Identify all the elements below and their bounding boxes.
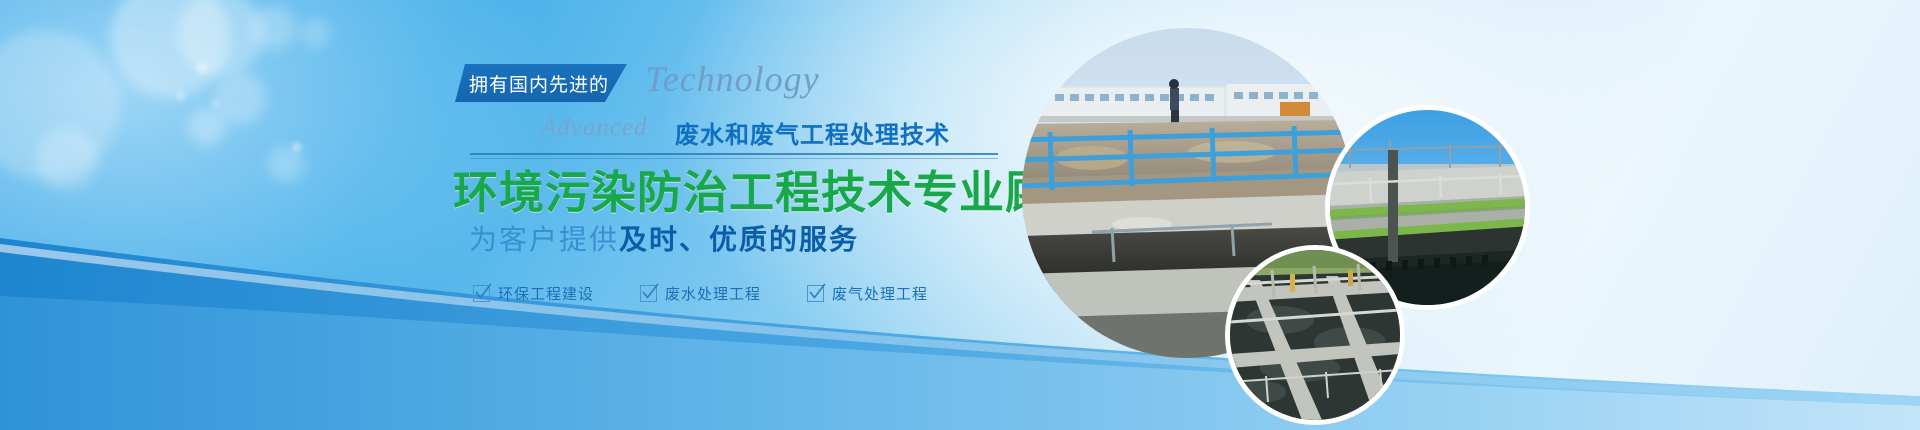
tagline-badge: 拥有国内先进的 — [455, 64, 627, 102]
divider-line-top — [470, 153, 998, 155]
bokeh-circle — [178, 0, 264, 76]
bokeh-circle — [300, 18, 330, 48]
check-icon — [807, 285, 824, 302]
slogan: 为客户提供及时、优质的服务 — [469, 222, 1015, 257]
feature-item-wastewater-treatment: 废水处理工程 — [640, 283, 761, 304]
divider-rules — [455, 153, 1015, 162]
bokeh-circle — [176, 92, 185, 101]
feature-label: 废气处理工程 — [832, 283, 928, 304]
banner-copy: 拥有国内先进的 Technology Advanced 废水和废气工程处理技术 … — [455, 62, 1015, 304]
bokeh-circle — [0, 30, 120, 180]
bokeh-circle — [196, 62, 208, 74]
promo-banner: 拥有国内先进的 Technology Advanced 废水和废气工程处理技术 … — [0, 0, 1920, 430]
feature-item-environmental-construction: 环保工程建设 — [473, 283, 594, 304]
tagline-row: 拥有国内先进的 Technology — [455, 62, 1015, 106]
bokeh-circle — [268, 146, 304, 182]
divider-line-bottom — [470, 158, 998, 159]
bokeh-circle — [292, 142, 302, 152]
english-technology: Technology — [645, 58, 820, 100]
bokeh-circle — [212, 100, 219, 107]
slogan-light-part: 为客户提供 — [469, 224, 619, 255]
feature-item-waste-gas-treatment: 废气处理工程 — [807, 283, 928, 304]
headline: 环境污染防治工程技术专业顾问 — [453, 168, 1015, 218]
check-icon — [473, 285, 490, 302]
subtitle-chinese: 废水和废气工程处理技术 — [675, 115, 950, 150]
feature-label: 环保工程建设 — [498, 283, 594, 304]
feature-label: 废水处理工程 — [665, 283, 761, 304]
feature-list: 环保工程建设 废水处理工程 废气处理工程 — [473, 283, 1015, 304]
bokeh-circle — [36, 128, 98, 190]
bokeh-circle — [252, 6, 296, 50]
bokeh-circle — [188, 108, 226, 146]
english-advanced: Advanced — [541, 114, 648, 142]
bokeh-circle — [110, 0, 230, 98]
bokeh-circle — [214, 72, 266, 124]
slogan-strong-part: 及时、优质的服务 — [619, 224, 859, 255]
check-icon — [640, 285, 657, 302]
subtitle-row: Advanced 废水和废气工程处理技术 — [455, 110, 1015, 150]
photo-settling-tank-walkway — [1230, 250, 1400, 420]
